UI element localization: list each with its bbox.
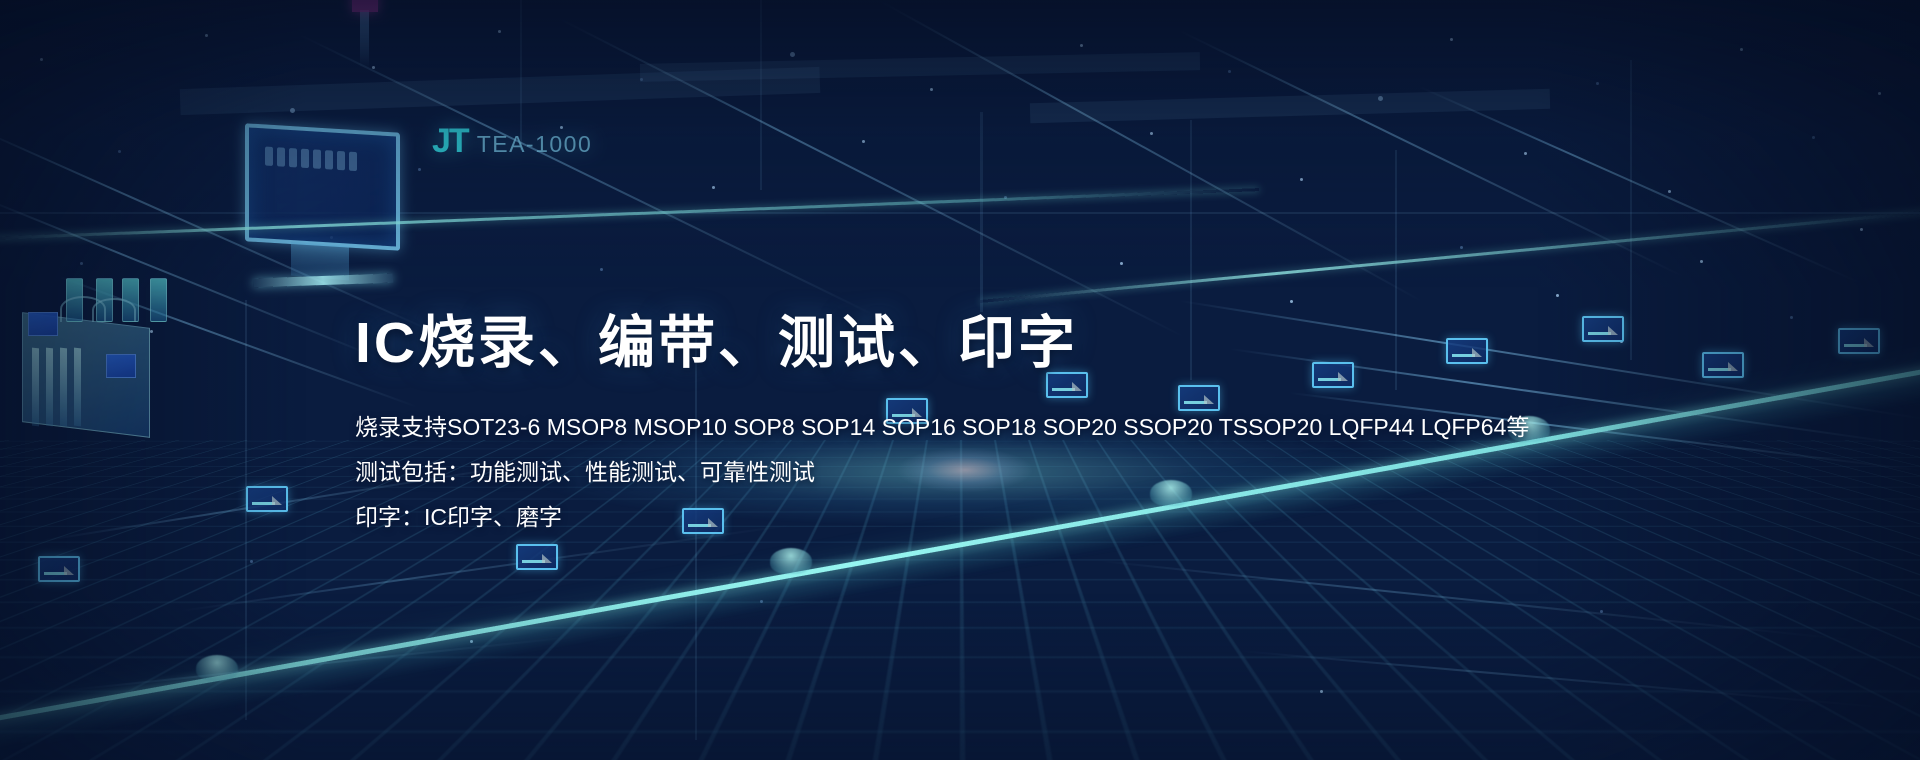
equipment-logo: JT TEA-1000 xyxy=(432,122,592,161)
screen-bar-graph xyxy=(265,146,357,171)
chip-icon xyxy=(1838,328,1880,354)
monitor-screen xyxy=(245,123,400,250)
rail-mount xyxy=(196,655,238,681)
chip-icon xyxy=(1702,352,1744,378)
chip-icon xyxy=(38,556,80,582)
monitor-base-rail xyxy=(253,274,393,288)
hero-banner: JT TEA-1000 IC烧录、编带、测试、印字 烧录支持SOT23-6 MS… xyxy=(0,0,1920,760)
magenta-indicator xyxy=(352,0,378,12)
chip-icon xyxy=(246,486,288,512)
machine-fin xyxy=(60,348,67,427)
logo-mark: JT xyxy=(432,122,468,161)
hero-subtitle-list: 烧录支持SOT23-6 MSOP8 MSOP10 SOP8 SOP14 SOP1… xyxy=(355,416,1605,529)
machine-fin xyxy=(32,348,39,427)
subtitle-line-packages: 烧录支持SOT23-6 MSOP8 MSOP10 SOP8 SOP14 SOP1… xyxy=(355,416,1605,439)
ic-handler-machine xyxy=(10,270,180,460)
upper-rail-beam-right xyxy=(980,208,1920,303)
machine-module xyxy=(28,312,58,336)
rail-mount xyxy=(770,548,812,574)
machine-module xyxy=(106,354,136,378)
logo-model-text: TEA-1000 xyxy=(477,131,593,158)
page-title: IC烧录、编带、测试、印字 xyxy=(355,312,1605,376)
machine-fin xyxy=(46,348,53,427)
machine-cylinder xyxy=(150,278,167,322)
subtitle-line-marking: 印字：IC印字、磨字 xyxy=(355,506,1605,529)
ceiling-stem xyxy=(360,10,369,68)
machine-tubing xyxy=(92,298,136,322)
machine-fin xyxy=(74,348,81,427)
upper-rail-beam xyxy=(0,188,1259,241)
subtitle-line-tests: 测试包括：功能测试、性能测试、可靠性测试 xyxy=(355,461,1605,484)
hero-content: IC烧录、编带、测试、印字 烧录支持SOT23-6 MSOP8 MSOP10 S… xyxy=(355,312,1605,529)
chip-icon xyxy=(516,544,558,570)
